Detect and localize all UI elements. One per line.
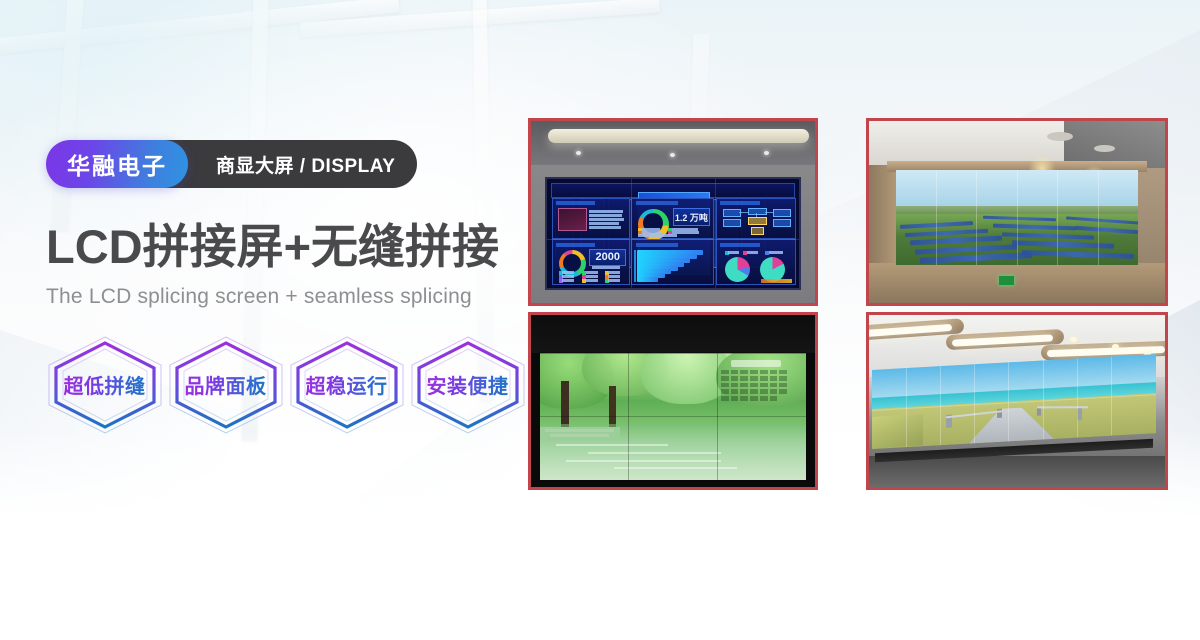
dashboard-kpi-secondary: 2000 bbox=[596, 251, 620, 263]
calendar-overlay bbox=[721, 360, 790, 411]
page-title: LCD拼接屏+无缝拼接 bbox=[46, 222, 526, 272]
photo-beach-boardwalk-curved-wall[interactable] bbox=[866, 312, 1168, 490]
feature-badge: 品牌面板 bbox=[167, 335, 284, 435]
photo-solar-farm-panoramic-wall[interactable] bbox=[866, 118, 1168, 306]
photo-image: 1.2 万吨 bbox=[531, 121, 815, 303]
photo-image bbox=[869, 315, 1165, 487]
feature-badge-list: 超低拼缝 品牌面板 超稳运行 bbox=[46, 335, 526, 435]
feature-badge-label: 超低拼缝 bbox=[64, 370, 146, 399]
brand-badge-label: 华融电子 bbox=[67, 147, 167, 181]
photo-green-lake-video-wall[interactable] bbox=[528, 312, 818, 490]
dashboard-kpi-primary: 1.2 万吨 bbox=[675, 211, 708, 224]
copy-column: 商显大屏 / DISPLAY 华融电子 LCD拼接屏+无缝拼接 The LCD … bbox=[46, 140, 526, 435]
feature-badge-label: 超稳运行 bbox=[306, 370, 388, 399]
brand-badge-row: 商显大屏 / DISPLAY 华融电子 bbox=[46, 140, 526, 188]
photo-image bbox=[869, 121, 1165, 303]
feature-badge-label: 安装便捷 bbox=[427, 370, 509, 399]
feature-badge: 超稳运行 bbox=[288, 335, 405, 435]
feature-badge: 超低拼缝 bbox=[46, 335, 163, 435]
category-badge-label: 商显大屏 / DISPLAY bbox=[216, 151, 395, 178]
brand-badge: 华融电子 bbox=[46, 140, 188, 188]
feature-badge: 安装便捷 bbox=[409, 335, 526, 435]
promo-banner: 商显大屏 / DISPLAY 华融电子 LCD拼接屏+无缝拼接 The LCD … bbox=[0, 0, 1200, 640]
page-subtitle: The LCD splicing screen + seamless splic… bbox=[46, 285, 526, 309]
feature-badge-label: 品牌面板 bbox=[185, 370, 267, 399]
photo-data-dashboard-video-wall[interactable]: 1.2 万吨 bbox=[528, 118, 818, 306]
product-photo-grid: 1.2 万吨 bbox=[528, 118, 1168, 490]
photo-image bbox=[531, 315, 815, 487]
